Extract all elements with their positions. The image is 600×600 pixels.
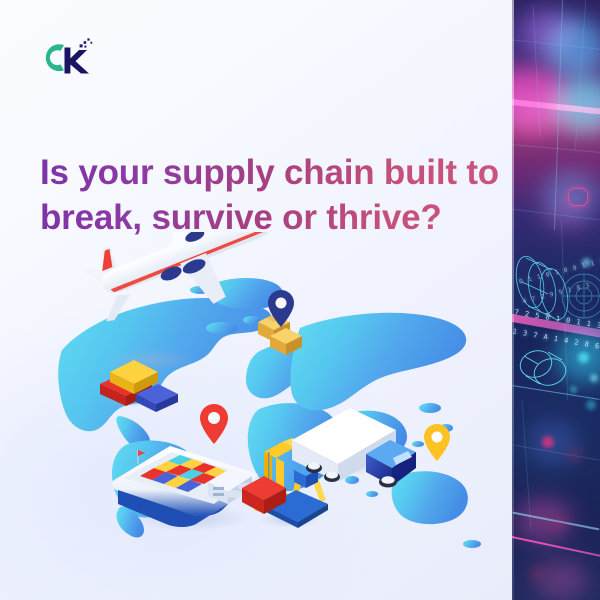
logo-pixel-4 xyxy=(84,46,86,48)
logo-pixel-2 xyxy=(84,41,87,44)
bokeh-5 xyxy=(542,436,554,448)
tech-panel-left-edge xyxy=(512,0,514,600)
tech-abstract-panel: 7 2 5 8 1 0 1 1 3 9 1 3 7 A 1 4 2 8 6 6 … xyxy=(512,0,600,600)
logo-k-shape xyxy=(65,48,90,74)
logo-pixel-1 xyxy=(80,44,83,47)
logo-pixel-3 xyxy=(87,38,89,40)
ck-logo[interactable] xyxy=(34,32,96,80)
bokeh-7 xyxy=(552,518,566,530)
bokeh-1 xyxy=(578,352,589,363)
map-pin-red-icon xyxy=(200,404,228,444)
bokeh-9 xyxy=(582,258,591,267)
headline: Is your supply chain built to break, sur… xyxy=(40,151,500,239)
poster-canvas: Is your supply chain built to break, sur… xyxy=(0,0,600,600)
bokeh-4 xyxy=(586,400,596,410)
logo-pixel-5 xyxy=(90,42,92,44)
bokeh-6 xyxy=(566,448,582,462)
global-supply-chain-illustration xyxy=(0,232,512,600)
bokeh-8 xyxy=(530,566,546,580)
content-panel: Is your supply chain built to break, sur… xyxy=(0,0,512,600)
logo-c-shape xyxy=(46,44,64,71)
bokeh-3 xyxy=(570,386,577,393)
map-pin-yellow-icon xyxy=(424,424,450,461)
headline-line-1: Is your supply chain built to xyxy=(40,151,500,195)
bokeh-2 xyxy=(590,374,598,382)
